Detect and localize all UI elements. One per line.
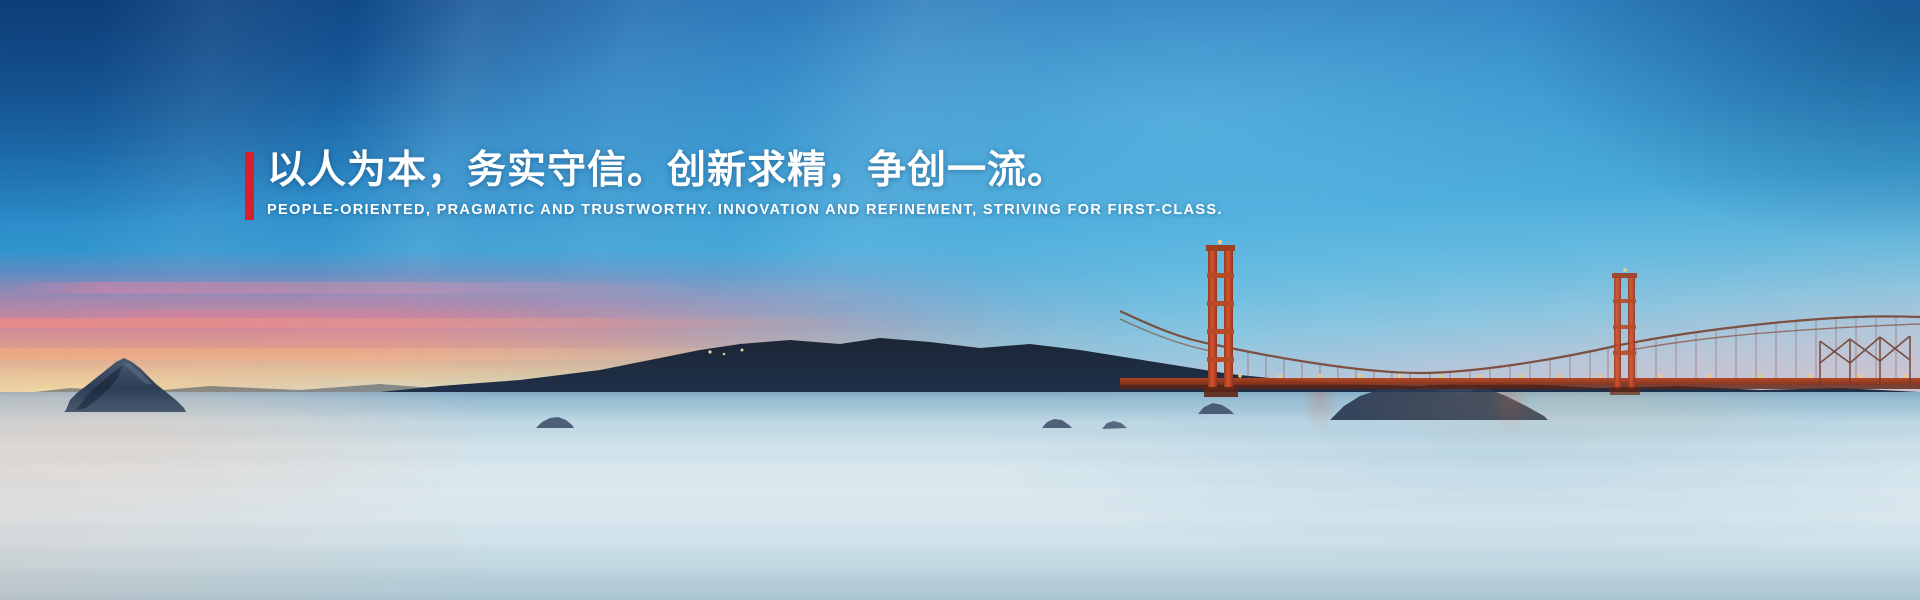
sea-stack-rock: [60, 352, 190, 414]
banner-subheadline: PEOPLE-ORIENTED, PRAGMATIC AND TRUSTWORT…: [267, 200, 1625, 220]
red-accent-bar: [245, 152, 254, 220]
banner-copy: 以人为本，务实守信。创新求精，争创一流。 PEOPLE-ORIENTED, PR…: [245, 148, 1625, 220]
hero-banner: 以人为本，务实守信。创新求精，争创一流。 PEOPLE-ORIENTED, PR…: [0, 0, 1920, 600]
banner-headline: 以人为本，务实守信。创新求精，争创一流。: [267, 148, 1625, 194]
bridge-reflection: [1150, 392, 1920, 512]
bridge-tower-left: [1206, 240, 1235, 389]
bridge-tower-right: [1612, 268, 1637, 389]
water-rock-2: [1040, 416, 1074, 430]
water-rock-1: [534, 414, 576, 430]
